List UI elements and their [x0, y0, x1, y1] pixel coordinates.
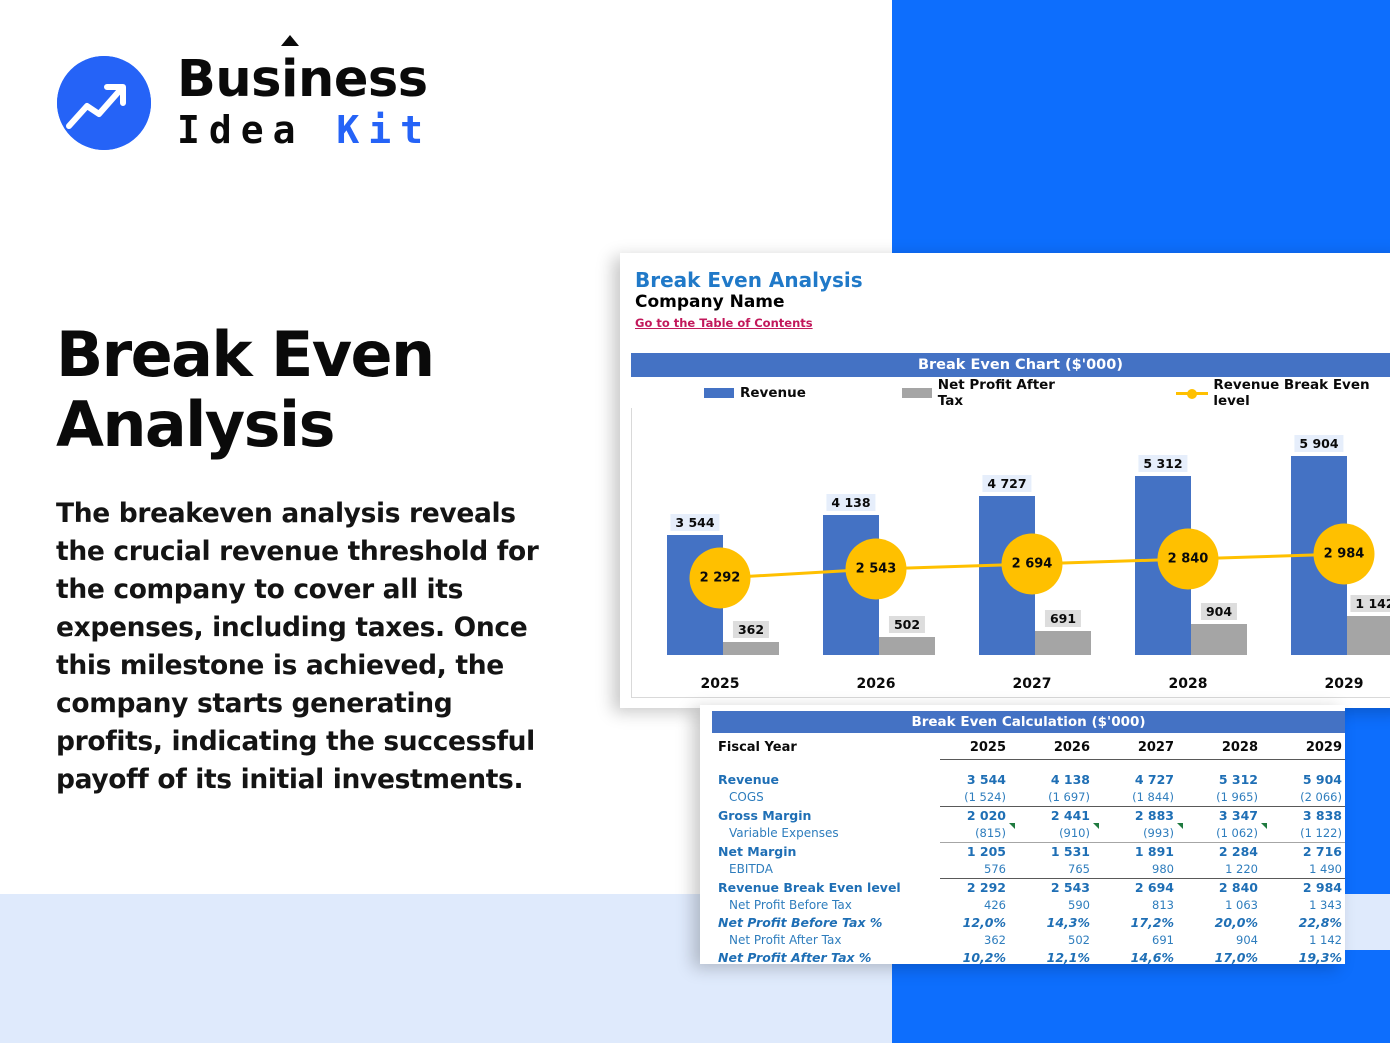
row-label-revenue: Revenue — [712, 771, 940, 789]
cell-npat-2025: 362 — [940, 932, 1024, 949]
legend-swatch-revenue — [704, 388, 734, 398]
cell-npat-2028: 904 — [1192, 932, 1276, 949]
chart-legend: Revenue Net Profit After Tax Revenue Bre… — [631, 383, 1390, 403]
cell-npbt-2026: 590 — [1024, 897, 1108, 914]
brand-wordmark: Business Idea Kit — [177, 52, 432, 152]
table-row-net-profit-after-tax-pct: Net Profit After Tax % 10,2% 12,1% 14,6%… — [712, 949, 1345, 965]
table-row-ebitda: EBITDA 576 765 980 1 220 1 490 — [712, 861, 1345, 879]
comment-marker-icon: (910) — [1059, 826, 1090, 840]
bar-net-profit-after-tax-2028[interactable] — [1191, 624, 1247, 655]
row-label-net-profit-after-tax: Net Profit After Tax — [712, 932, 940, 949]
legend-item-revenue[interactable]: Revenue — [704, 385, 806, 401]
cell-break-even-2026: 2 543 — [1024, 878, 1108, 897]
break-even-node-2025[interactable]: 2 292 — [690, 548, 751, 609]
x-axis-tick-2027: 2027 — [1013, 676, 1052, 692]
legend-label-break-even-level: Revenue Break Even level — [1213, 377, 1390, 409]
cell-cogs-2029: (2 066) — [1276, 789, 1345, 807]
cell-npat-pct-2025: 10,2% — [940, 949, 1024, 965]
break-even-node-2028[interactable]: 2 840 — [1158, 529, 1219, 590]
cell-revenue-2027: 4 727 — [1108, 771, 1192, 789]
sheet-company-name: Company Name — [635, 292, 863, 313]
row-label-ebitda: EBITDA — [712, 861, 940, 879]
cell-npat-pct-2027: 14,6% — [1108, 949, 1192, 965]
table-title-banner: Break Even Calculation ($'000) — [712, 711, 1345, 733]
page-body-text: The breakeven analysis reveals the cruci… — [56, 495, 546, 799]
cell-variable-expenses-2028: (1 062) — [1192, 825, 1276, 843]
bar-net-profit-after-tax-2025[interactable] — [723, 642, 779, 655]
cell-net-margin-2027: 1 891 — [1108, 842, 1192, 861]
row-label-net-profit-before-tax-pct: Net Profit Before Tax % — [712, 914, 940, 932]
comment-marker-icon: (1 062) — [1216, 826, 1258, 840]
table-row-revenue-break-even-level: Revenue Break Even level 2 292 2 543 2 6… — [712, 878, 1345, 897]
bar-net-profit-after-tax-2029[interactable] — [1347, 616, 1390, 655]
cell-npat-pct-2029: 19,3% — [1276, 949, 1345, 965]
bar-net-profit-after-tax-2027[interactable] — [1035, 631, 1091, 655]
table-header-2028: 2028 — [1192, 738, 1276, 760]
x-axis-tick-2025: 2025 — [701, 676, 740, 692]
cell-npat-pct-2028: 17,0% — [1192, 949, 1276, 965]
brand-name-line1: Business — [177, 52, 432, 108]
cell-cogs-2026: (1 697) — [1024, 789, 1108, 807]
break-even-node-2029[interactable]: 2 984 — [1314, 524, 1375, 585]
table-row-net-profit-before-tax: Net Profit Before Tax 426 590 813 1 063 … — [712, 897, 1345, 914]
legend-swatch-break-even-level — [1176, 388, 1208, 398]
cell-net-margin-2026: 1 531 — [1024, 842, 1108, 861]
bar-label-net-profit-after-tax-2025: 362 — [733, 621, 769, 638]
cell-break-even-2025: 2 292 — [940, 878, 1024, 897]
cell-npat-2029: 1 142 — [1276, 932, 1345, 949]
bar-label-revenue-2027: 4 727 — [982, 475, 1031, 492]
cell-net-margin-2025: 1 205 — [940, 842, 1024, 861]
cell-cogs-2028: (1 965) — [1192, 789, 1276, 807]
cell-npat-2027: 691 — [1108, 932, 1192, 949]
row-label-net-margin: Net Margin — [712, 842, 940, 861]
cell-revenue-2025: 3 544 — [940, 771, 1024, 789]
cell-cogs-2027: (1 844) — [1108, 789, 1192, 807]
cell-npbt-2027: 813 — [1108, 897, 1192, 914]
row-label-revenue-break-even-level: Revenue Break Even level — [712, 878, 940, 897]
bar-label-revenue-2028: 5 312 — [1138, 455, 1187, 472]
break-even-node-2027[interactable]: 2 694 — [1002, 534, 1063, 595]
table-header-2029: 2029 — [1276, 738, 1345, 760]
table-of-contents-link[interactable]: Go to the Table of Contents — [635, 315, 813, 331]
chart-group-2025: 3 544 362 — [661, 408, 801, 655]
brand-name-line2: Idea Kit — [177, 108, 432, 152]
page-title: Break Even Analysis — [56, 320, 526, 460]
cell-npbt-2025: 426 — [940, 897, 1024, 914]
row-label-net-profit-after-tax-pct: Net Profit After Tax % — [712, 949, 940, 965]
cell-gross-margin-2027: 2 883 — [1108, 806, 1192, 825]
legend-item-break-even-level[interactable]: Revenue Break Even level — [1176, 377, 1390, 409]
cell-ebitda-2028: 1 220 — [1192, 861, 1276, 879]
cell-npat-pct-2026: 12,1% — [1024, 949, 1108, 965]
background-blue-top-right — [892, 0, 1390, 258]
cell-variable-expenses-2025: (815) — [940, 825, 1024, 843]
cell-revenue-2028: 5 312 — [1192, 771, 1276, 789]
bar-label-net-profit-after-tax-2027: 691 — [1045, 610, 1081, 627]
legend-label-revenue: Revenue — [740, 385, 806, 401]
brand-name-idea: Idea — [177, 108, 336, 152]
table-header-fiscal-year: Fiscal Year — [712, 738, 940, 760]
table-row-net-profit-before-tax-pct: Net Profit Before Tax % 12,0% 14,3% 17,2… — [712, 914, 1345, 932]
table-header-2027: 2027 — [1108, 738, 1192, 760]
table-row-revenue: Revenue 3 544 4 138 4 727 5 312 5 904 — [712, 771, 1345, 789]
cell-gross-margin-2026: 2 441 — [1024, 806, 1108, 825]
table-row-gross-margin: Gross Margin 2 020 2 441 2 883 3 347 3 8… — [712, 806, 1345, 825]
cell-npbt-pct-2027: 17,2% — [1108, 914, 1192, 932]
table-row-net-profit-after-tax: Net Profit After Tax 362 502 691 904 1 1… — [712, 932, 1345, 949]
sheet-title: Break Even Analysis — [635, 269, 863, 292]
cell-npbt-2028: 1 063 — [1192, 897, 1276, 914]
table-header-2025: 2025 — [940, 738, 1024, 760]
cell-variable-expenses-2029: (1 122) — [1276, 825, 1345, 843]
legend-swatch-net-profit-after-tax — [902, 388, 932, 398]
cell-npbt-pct-2026: 14,3% — [1024, 914, 1108, 932]
excel-table-panel: Break Even Calculation ($'000) Fiscal Ye… — [700, 705, 1345, 964]
bar-label-revenue-2029: 5 904 — [1294, 435, 1343, 452]
cell-gross-margin-2028: 3 347 — [1192, 806, 1276, 825]
cell-npbt-pct-2025: 12,0% — [940, 914, 1024, 932]
comment-marker-icon: (993) — [1143, 826, 1174, 840]
x-axis-tick-2026: 2026 — [857, 676, 896, 692]
table-header-2026: 2026 — [1024, 738, 1108, 760]
cell-break-even-2027: 2 694 — [1108, 878, 1192, 897]
cell-npbt-pct-2029: 22,8% — [1276, 914, 1345, 932]
growth-arrow-circle-icon — [57, 56, 151, 150]
comment-marker-icon: (815) — [975, 826, 1006, 840]
x-axis-tick-2029: 2029 — [1325, 676, 1364, 692]
table-row-net-margin: Net Margin 1 205 1 531 1 891 2 284 2 716 — [712, 842, 1345, 861]
table-row-cogs: COGS (1 524) (1 697) (1 844) (1 965) (2 … — [712, 789, 1345, 807]
chart-group-2027: 4 727 691 — [973, 408, 1113, 655]
bar-label-net-profit-after-tax-2028: 904 — [1201, 603, 1237, 620]
cell-break-even-2029: 2 984 — [1276, 878, 1345, 897]
cell-ebitda-2025: 576 — [940, 861, 1024, 879]
cell-net-margin-2029: 2 716 — [1276, 842, 1345, 861]
cell-npbt-2029: 1 343 — [1276, 897, 1345, 914]
cell-ebitda-2029: 1 490 — [1276, 861, 1345, 879]
cell-variable-expenses-2027: (993) — [1108, 825, 1192, 843]
row-label-variable-expenses: Variable Expenses — [712, 825, 940, 843]
cell-net-margin-2028: 2 284 — [1192, 842, 1276, 861]
table-row-variable-expenses: Variable Expenses (815) (910) (993) (1 0… — [712, 825, 1345, 843]
chart-group-2026: 4 138 502 — [817, 408, 957, 655]
slide-canvas: Business Idea Kit Break Even Analysis Th… — [0, 0, 1390, 1043]
bar-label-net-profit-after-tax-2029: 1 142 — [1350, 595, 1390, 612]
sheet-header: Break Even Analysis Company Name Go to t… — [635, 269, 863, 332]
cell-gross-margin-2029: 3 838 — [1276, 806, 1345, 825]
cell-npat-2026: 502 — [1024, 932, 1108, 949]
cell-revenue-2029: 5 904 — [1276, 771, 1345, 789]
table-header-row: Fiscal Year 2025 2026 2027 2028 2029 — [712, 738, 1345, 760]
cell-break-even-2028: 2 840 — [1192, 878, 1276, 897]
cell-revenue-2026: 4 138 — [1024, 771, 1108, 789]
cell-npbt-pct-2028: 20,0% — [1192, 914, 1276, 932]
legend-item-net-profit-after-tax[interactable]: Net Profit After Tax — [902, 377, 1085, 409]
table-spacer-row — [712, 760, 1345, 771]
cell-gross-margin-2025: 2 020 — [940, 806, 1024, 825]
row-label-cogs: COGS — [712, 789, 940, 807]
chart-title-banner: Break Even Chart ($'000) — [631, 353, 1390, 377]
bar-label-revenue-2025: 3 544 — [670, 514, 719, 531]
cell-variable-expenses-2026: (910) — [1024, 825, 1108, 843]
bar-label-revenue-2026: 4 138 — [826, 494, 875, 511]
bar-net-profit-after-tax-2026[interactable] — [879, 637, 935, 655]
break-even-calculation-table: Fiscal Year 2025 2026 2027 2028 2029 Rev… — [712, 738, 1345, 964]
brand-name-line1-text: Business — [177, 50, 428, 109]
row-label-gross-margin: Gross Margin — [712, 806, 940, 825]
excel-chart-panel: Break Even Analysis Company Name Go to t… — [620, 253, 1390, 708]
row-label-net-profit-before-tax: Net Profit Before Tax — [712, 897, 940, 914]
bar-label-net-profit-after-tax-2026: 502 — [889, 616, 925, 633]
x-axis-tick-2028: 2028 — [1169, 676, 1208, 692]
brand-name-kit: Kit — [336, 108, 432, 152]
legend-label-net-profit-after-tax: Net Profit After Tax — [938, 377, 1085, 409]
brand-logo: Business Idea Kit — [57, 52, 437, 156]
chart-plot-area: 3 544 362 4 138 502 4 727 691 5 312 — [631, 408, 1390, 698]
cell-ebitda-2027: 980 — [1108, 861, 1192, 879]
cell-ebitda-2026: 765 — [1024, 861, 1108, 879]
cell-cogs-2025: (1 524) — [940, 789, 1024, 807]
break-even-node-2026[interactable]: 2 543 — [846, 539, 907, 600]
